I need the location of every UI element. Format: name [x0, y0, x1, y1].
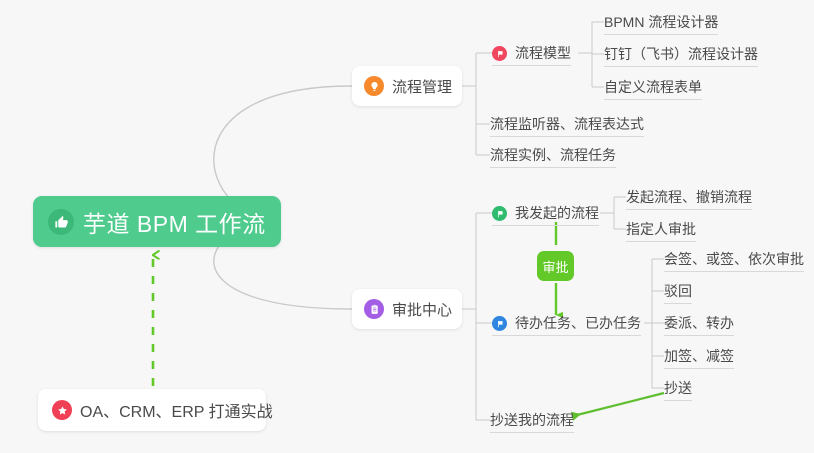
- root-label: 芋道 BPM 工作流: [83, 205, 266, 239]
- flag-icon: [492, 206, 507, 221]
- branch-label-process-management: 流程管理: [392, 76, 452, 97]
- branch-label-approval-center: 审批中心: [392, 299, 452, 320]
- leaf-cc-to-me-process[interactable]: 抄送我的流程: [490, 407, 574, 433]
- clipboard-icon: [364, 299, 384, 319]
- leaf-dingtalk-feishu-designer[interactable]: 钉钉（飞书）流程设计器: [604, 41, 758, 67]
- flag-icon: [492, 46, 507, 61]
- branch-node-approval-center[interactable]: 审批中心: [352, 289, 462, 329]
- leaf-label-todo-done-tasks: 待办任务、已办任务: [515, 315, 641, 331]
- leaf-process-model[interactable]: 流程模型: [492, 40, 571, 66]
- leaf-label-cc: 抄送: [664, 380, 692, 396]
- leaf-todo-done-tasks[interactable]: 待办任务、已办任务: [492, 310, 641, 336]
- leaf-label-delegate-transfer: 委派、转办: [664, 315, 734, 331]
- mindmap-canvas: 芋道 BPM 工作流 流程管理 审批中心 流程模型 BPMN 流程设计器 钉: [0, 0, 814, 453]
- leaf-listener-expression[interactable]: 流程监听器、流程表达式: [490, 111, 644, 137]
- leaf-label-add-remove-sign: 加签、减签: [664, 348, 734, 364]
- bottom-node-oa-crm-erp[interactable]: OA、CRM、ERP 打通实战: [38, 389, 266, 431]
- leaf-label-instance-task: 流程实例、流程任务: [490, 147, 616, 163]
- arrow-cc-to-ccme: [573, 393, 664, 416]
- leaf-label-reject: 驳回: [664, 283, 692, 299]
- leaf-my-initiated-process[interactable]: 我发起的流程: [492, 200, 599, 226]
- leaf-label-process-model: 流程模型: [515, 45, 571, 61]
- leaf-instance-task[interactable]: 流程实例、流程任务: [490, 142, 616, 168]
- leaf-label-dingtalk-feishu-designer: 钉钉（飞书）流程设计器: [604, 46, 758, 62]
- leaf-label-start-cancel-process: 发起流程、撤销流程: [626, 189, 752, 205]
- leaf-add-remove-sign[interactable]: 加签、减签: [664, 343, 734, 369]
- leaf-label-my-initiated-process: 我发起的流程: [515, 205, 599, 221]
- leaf-reject[interactable]: 驳回: [664, 278, 692, 304]
- leaf-label-cc-to-me-process: 抄送我的流程: [490, 412, 574, 428]
- leaf-assignee-approval[interactable]: 指定人审批: [626, 216, 696, 242]
- leaf-label-custom-process-form: 自定义流程表单: [604, 79, 702, 95]
- root-node[interactable]: 芋道 BPM 工作流: [33, 196, 281, 247]
- leaf-label-bpmn-designer: BPMN 流程设计器: [604, 14, 718, 30]
- leaf-cc[interactable]: 抄送: [664, 375, 692, 401]
- lightbulb-icon: [364, 76, 384, 96]
- leaf-label-countersign-orsign-sequential: 会签、或签、依次审批: [664, 251, 804, 267]
- leaf-start-cancel-process[interactable]: 发起流程、撤销流程: [626, 184, 752, 210]
- star-icon: [52, 400, 72, 420]
- leaf-countersign-orsign-sequential[interactable]: 会签、或签、依次审批: [664, 246, 804, 272]
- thumbs-up-icon: [48, 209, 74, 235]
- approval-badge-label: 审批: [542, 257, 568, 276]
- flag-icon: [492, 316, 507, 331]
- leaf-custom-process-form[interactable]: 自定义流程表单: [604, 74, 702, 100]
- leaf-label-listener-expression: 流程监听器、流程表达式: [490, 116, 644, 132]
- leaf-label-assignee-approval: 指定人审批: [626, 221, 696, 237]
- approval-badge: 审批: [537, 251, 574, 281]
- leaf-delegate-transfer[interactable]: 委派、转办: [664, 310, 734, 336]
- bottom-node-label: OA、CRM、ERP 打通实战: [80, 398, 273, 422]
- leaf-bpmn-designer[interactable]: BPMN 流程设计器: [604, 9, 718, 35]
- branch-node-process-management[interactable]: 流程管理: [352, 66, 462, 106]
